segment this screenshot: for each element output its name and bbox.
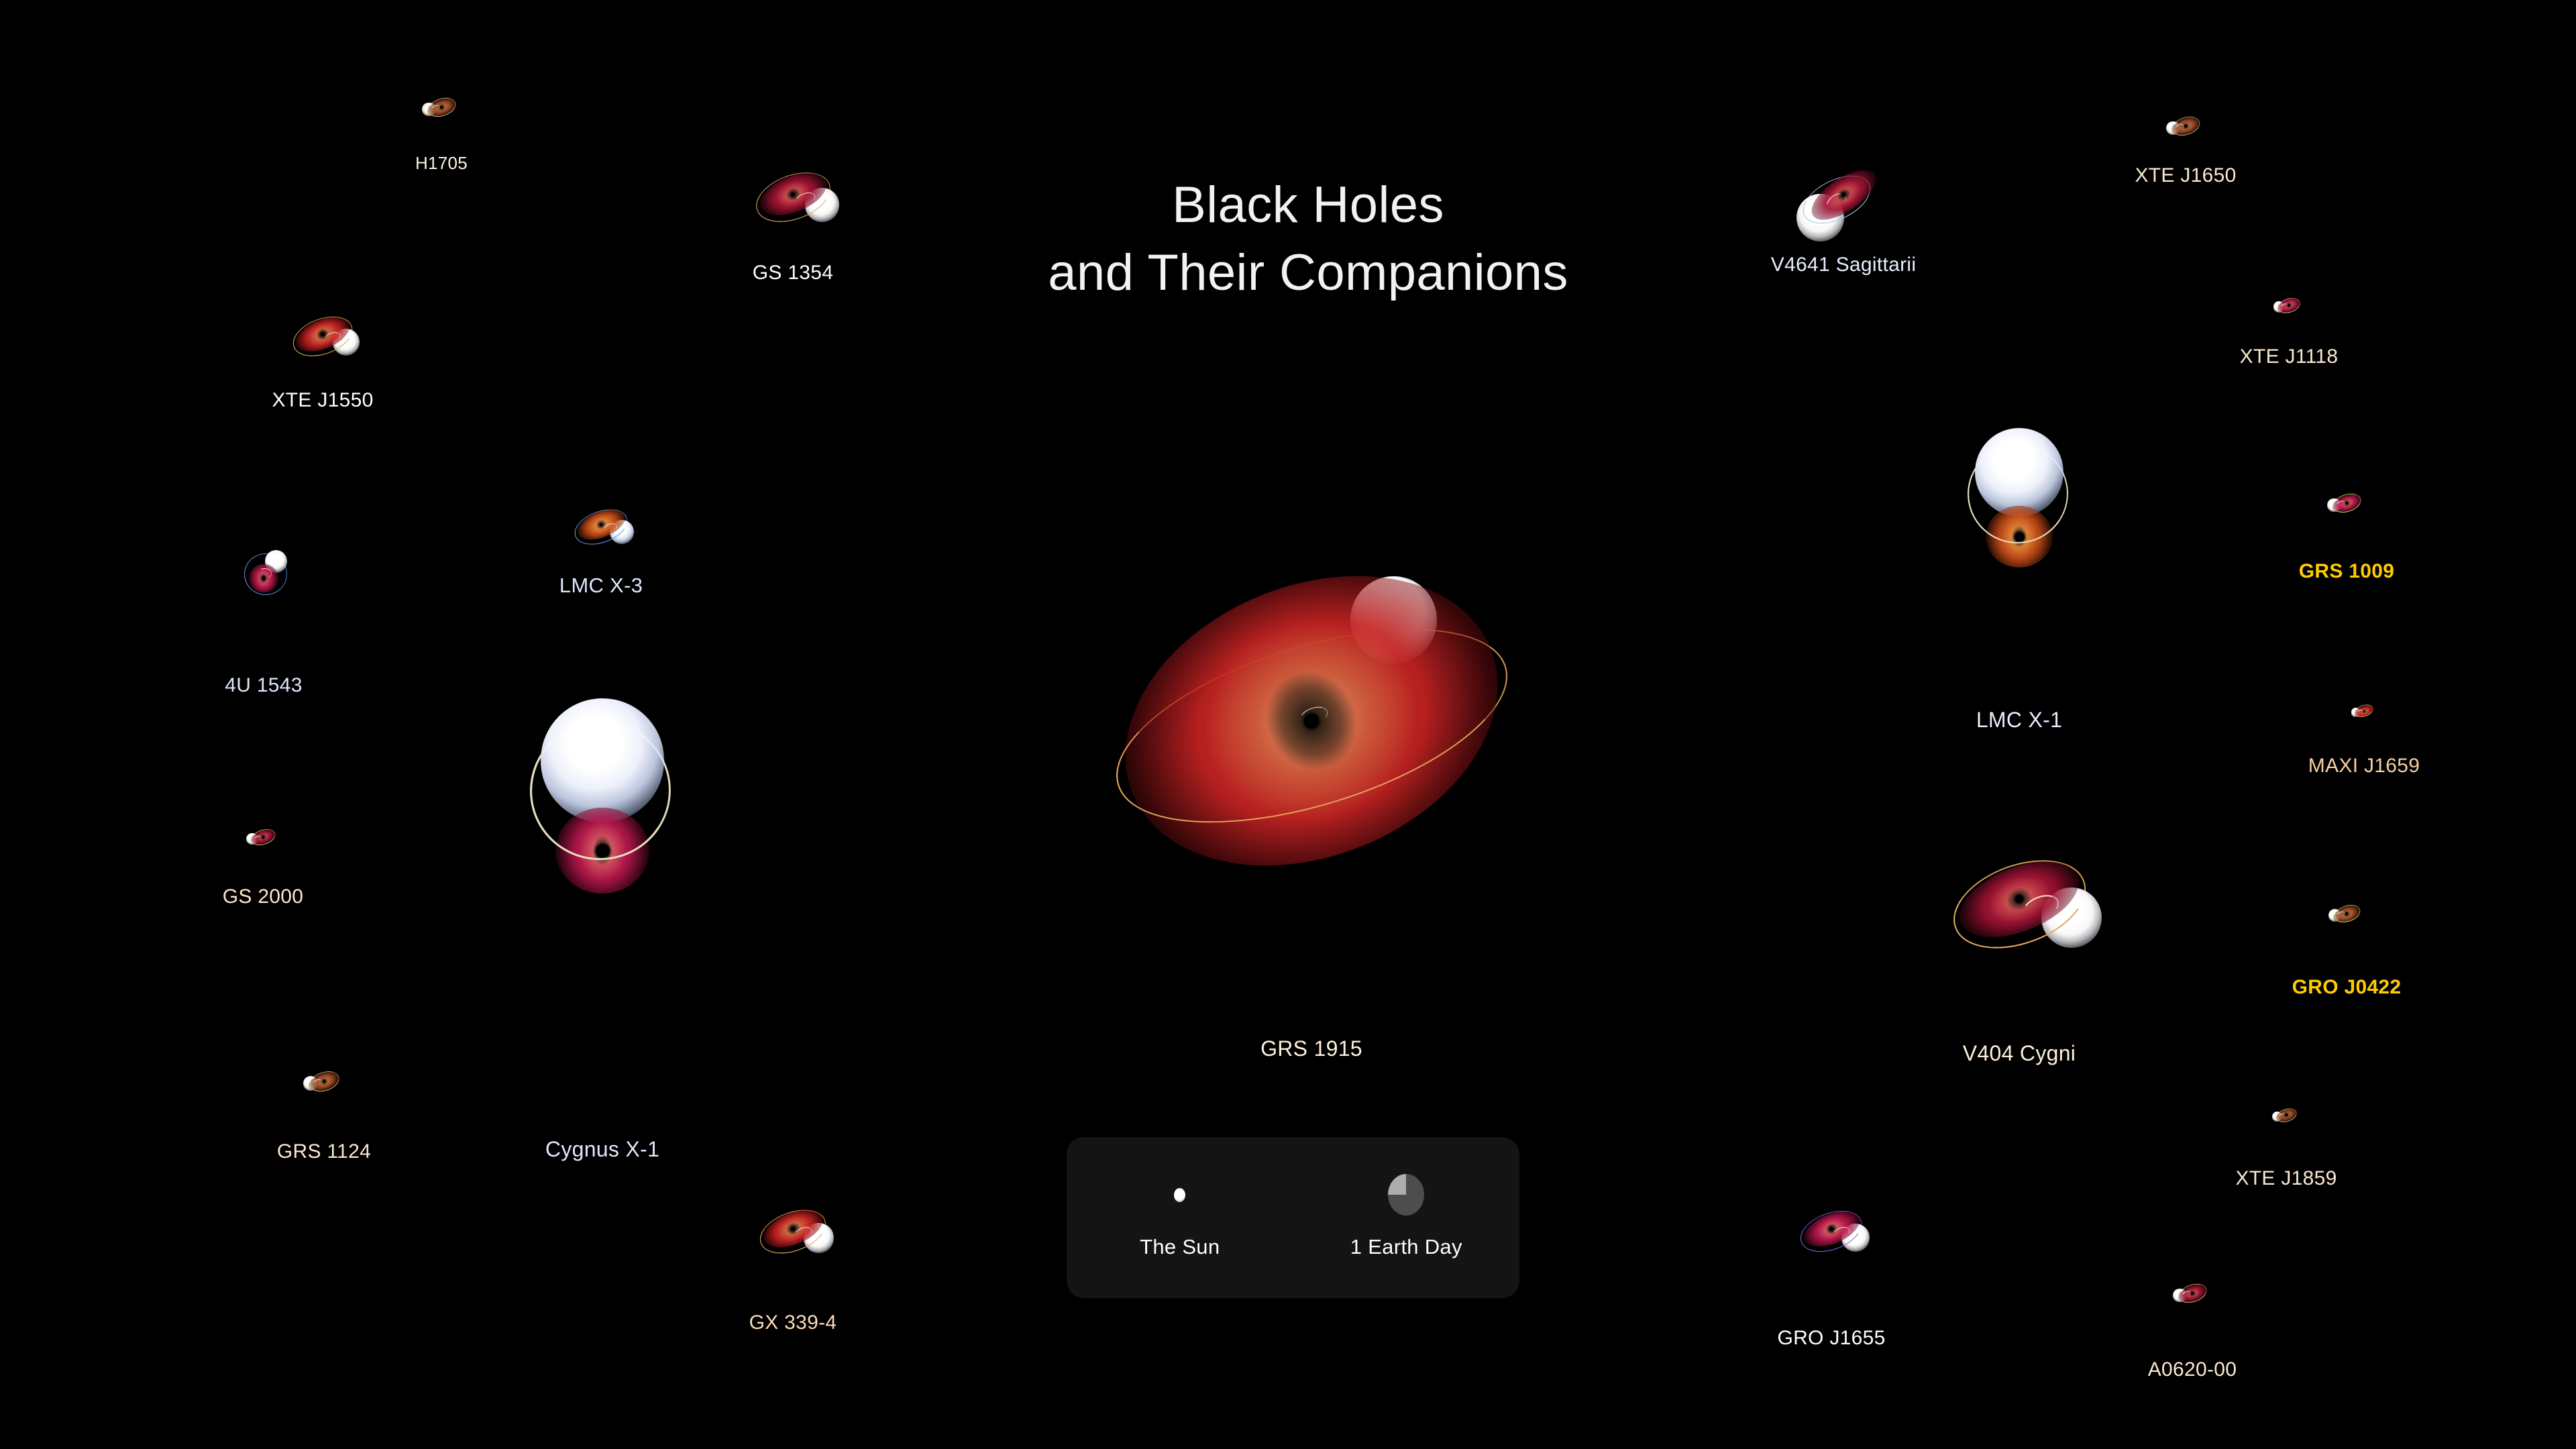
system-label-gx339: GX 339-4 [749,1311,837,1334]
orbit-ellipse-front-cygx1 [517,708,684,873]
system-label-a0620: A0620-00 [2148,1358,2237,1381]
system-label-lmcx3: LMC X-3 [559,574,643,598]
system-label-gs2000: GS 2000 [223,885,304,908]
system-label-xtej1118: XTE J1118 [2240,345,2339,368]
orbit-ellipse-front-grs1124 [307,1068,342,1095]
legend-item-the-sun: The Sun [1120,1176,1240,1259]
page-title: Black Holes and Their Companions [1033,171,1583,307]
system-label-cygx1: Cygnus X-1 [545,1137,659,1162]
orbit-ellipse-front-grs1009 [2330,490,2363,516]
system-label-grs1009: GRS 1009 [2299,560,2394,583]
system-label-xtej1859: XTE J1859 [2235,1167,2337,1190]
orbit-ellipse-front-xtej1650 [2169,113,2202,139]
quarter-pie-clock-icon [1388,1176,1424,1214]
orbit-ellipse-front-lmcx1 [1958,435,2077,553]
system-label-xtej1550: XTE J1550 [272,389,373,412]
system-label-grs1124: GRS 1124 [277,1140,371,1163]
system-label-v404: V404 Cygni [1963,1041,2076,1066]
system-label-groj1655: GRO J1655 [1777,1327,1885,1350]
legend-label-one-earth-day: 1 Earth Day [1350,1235,1462,1259]
legend-panel: The Sun 1 Earth Day [1067,1137,1519,1298]
system-label-v4641: V4641 Sagittarii [1771,254,1917,276]
sun-dot-icon [1174,1176,1185,1214]
system-label-xtej1650: XTE J1650 [2135,164,2236,187]
legend-item-one-earth-day: 1 Earth Day [1346,1176,1466,1259]
system-label-groj0422: GRO J0422 [2292,976,2402,999]
system-label-grs1915: GRS 1915 [1260,1036,1362,1061]
system-label-maxij1659: MAXI J1659 [2308,755,2420,777]
system-label-gs1354: GS 1354 [753,262,834,284]
system-label-h1705: H1705 [415,153,468,174]
legend-label-the-sun: The Sun [1140,1235,1220,1259]
system-label-lmcx1: LMC X-1 [1976,708,2062,733]
orbit-ellipse-front-4u1543 [244,553,287,595]
orbit-ellipse-front-h1705 [425,95,458,120]
orbit-ellipse-front-a0620 [2176,1281,2208,1306]
system-label-4u1543: 4U 1543 [225,674,303,697]
